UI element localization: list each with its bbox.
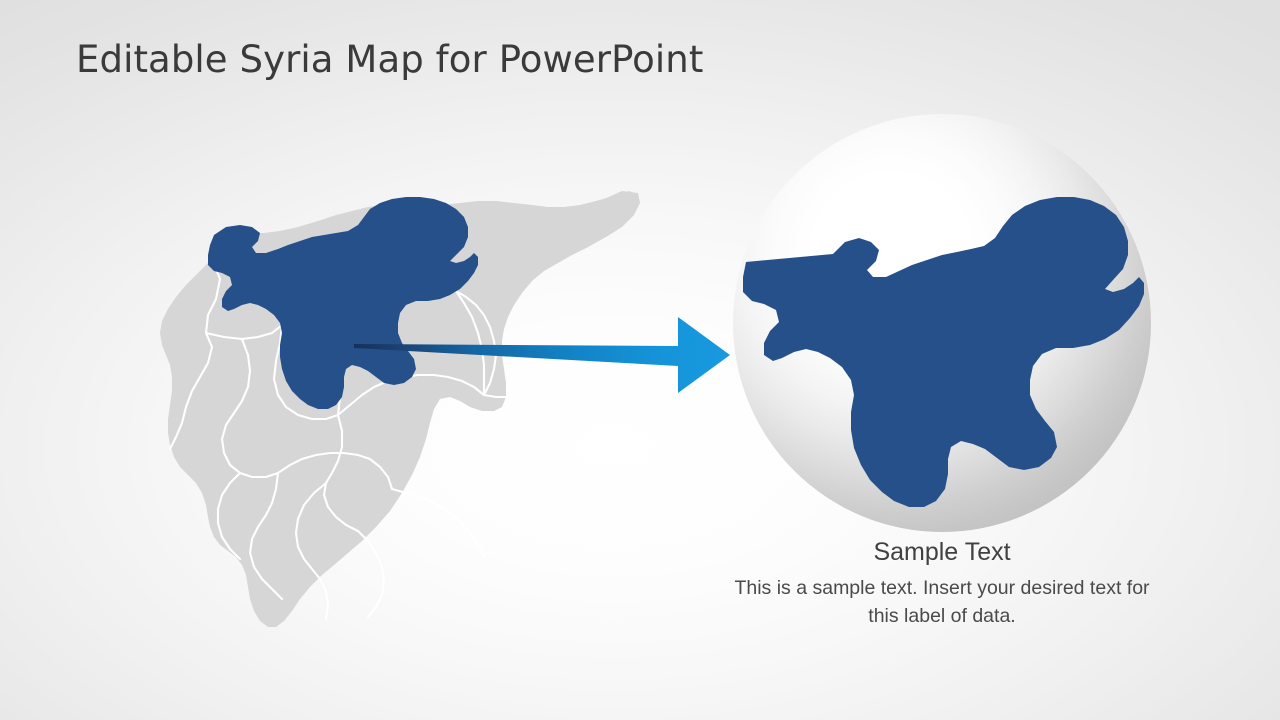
syria-map[interactable] [130, 175, 660, 645]
slide-canvas: Editable Syria Map for PowerPoint [0, 0, 1280, 720]
sphere-magnifier [733, 114, 1151, 532]
page-title: Editable Syria Map for PowerPoint [76, 38, 703, 81]
caption-body: This is a sample text. Insert your desir… [733, 574, 1151, 630]
caption-heading: Sample Text [733, 536, 1151, 568]
sphere-region-svg [733, 114, 1151, 532]
sphere-region-map [733, 114, 1151, 532]
arrow-shape [354, 317, 730, 393]
caption-block: Sample Text This is a sample text. Inser… [733, 536, 1151, 630]
pointer-arrow [330, 300, 740, 410]
magnified-region-aleppo [743, 197, 1144, 507]
syria-map-svg [130, 175, 660, 645]
pointer-arrow-svg [330, 300, 740, 410]
